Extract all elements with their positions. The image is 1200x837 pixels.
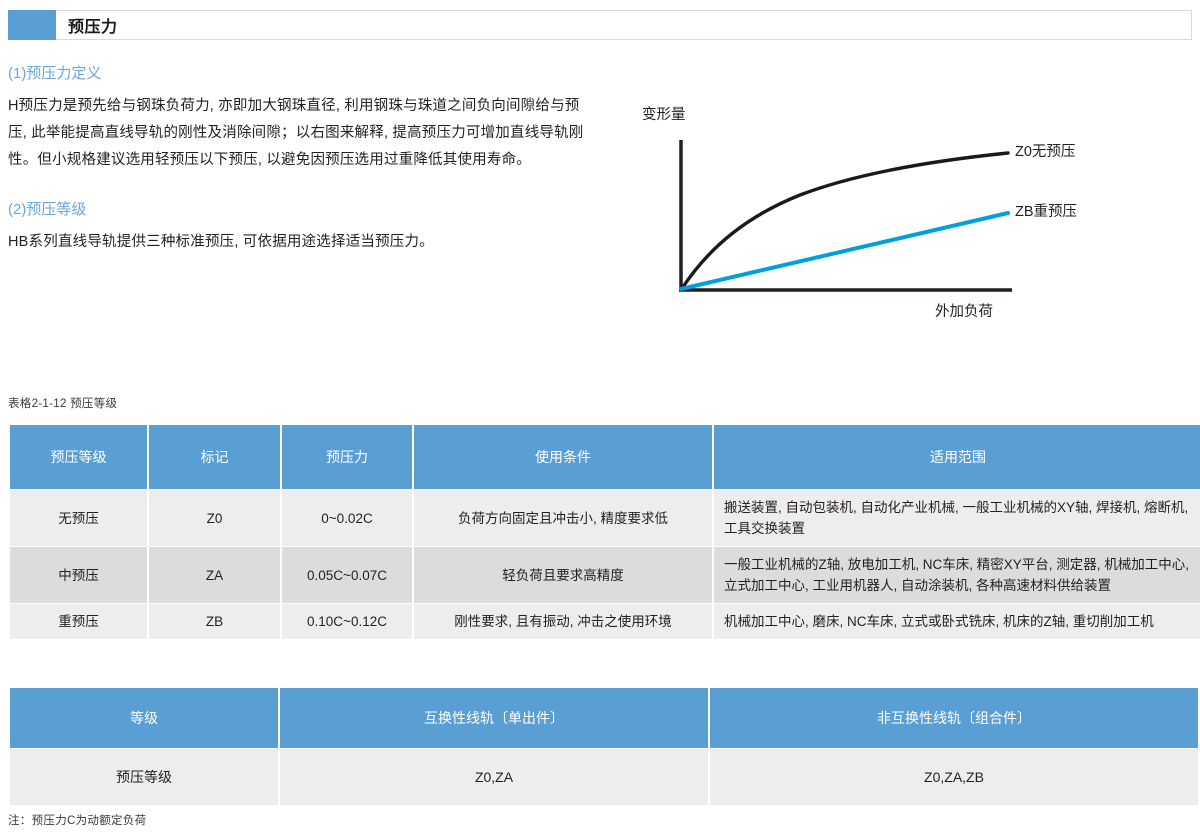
chart-legend-z0: Z0无预压 [1015, 140, 1075, 161]
cell-conditions: 轻负荷且要求高精度 [414, 547, 712, 603]
table-row: 无预压 Z0 0~0.02C 负荷方向固定且冲击小, 精度要求低 搬送装置, 自… [10, 490, 1200, 546]
chart-ylabel: 变形量 [642, 103, 686, 124]
preload-deformation-chart: 变形量 外加负荷 Z0无预压 ZB重预压 [600, 95, 1200, 340]
cell-grade: 中预压 [10, 547, 147, 603]
cell-conditions: 负荷方向固定且冲击小, 精度要求低 [414, 490, 712, 546]
table-1-col-grade: 预压等级 [10, 425, 147, 489]
cell-applications: 搬送装置, 自动包装机, 自动化产业机械, 一般工业机械的XY轴, 焊接机, 熔… [714, 490, 1200, 546]
table-1-col-conditions: 使用条件 [414, 425, 712, 489]
table-2-col-noninterchangeable: 非互换性线轨〔组合件〕 [710, 688, 1198, 748]
page-title: 预压力 [68, 13, 118, 37]
table-1-caption: 表格2-1-12 预压等级 [8, 395, 117, 411]
footnote: 注：预压力C为动额定负荷 [8, 812, 146, 828]
section-heading-definition: (1)预压力定义 [8, 62, 588, 83]
cell-noninterchangeable: Z0,ZA,ZB [710, 749, 1198, 805]
section-heading-grades: (2)预压等级 [8, 198, 588, 219]
section-body-definition: H预压力是预先给与钢珠负荷力, 亦即加大钢珠直径, 利用钢珠与珠道之间负向间隙给… [8, 93, 588, 174]
chart-legend-zb: ZB重预压 [1015, 200, 1077, 221]
chart-series-z0-curve [681, 153, 1008, 290]
cell-conditions: 刚性要求, 且有振动, 冲击之使用环境 [414, 604, 712, 639]
cell-applications: 一般工业机械的Z轴, 放电加工机, NC车床, 精密XY平台, 测定器, 机械加… [714, 547, 1200, 603]
cell-force: 0.05C~0.07C [282, 547, 412, 603]
table-row: 重预压 ZB 0.10C~0.12C 刚性要求, 且有振动, 冲击之使用环境 机… [10, 604, 1200, 639]
preload-grade-table: 预压等级 标记 预压力 使用条件 适用范围 无预压 Z0 0~0.02C 负荷方… [8, 424, 1200, 640]
table-1-header-row: 预压等级 标记 预压力 使用条件 适用范围 [10, 425, 1200, 489]
table-row: 中预压 ZA 0.05C~0.07C 轻负荷且要求高精度 一般工业机械的Z轴, … [10, 547, 1200, 603]
chart-series-zb-line [681, 213, 1008, 289]
interchangeability-table: 等级 互换性线轨〔单出件〕 非互换性线轨〔组合件〕 预压等级 Z0,ZA Z0,… [8, 687, 1200, 806]
table-2-col-interchangeable: 互换性线轨〔单出件〕 [280, 688, 708, 748]
cell-force: 0~0.02C [282, 490, 412, 546]
cell-grade: 无预压 [10, 490, 147, 546]
cell-interchangeable: Z0,ZA [280, 749, 708, 805]
table-2-col-grade: 等级 [10, 688, 278, 748]
table-1-col-force: 预压力 [282, 425, 412, 489]
cell-grade: 预压等级 [10, 749, 278, 805]
table-row: 预压等级 Z0,ZA Z0,ZA,ZB [10, 749, 1198, 805]
header-accent-block [8, 10, 56, 40]
text-column: (1)预压力定义 H预压力是预先给与钢珠负荷力, 亦即加大钢珠直径, 利用钢珠与… [8, 62, 588, 256]
section-header-bar: 预压力 [8, 10, 1192, 40]
chart-xlabel: 外加负荷 [935, 300, 993, 321]
cell-mark: ZA [149, 547, 280, 603]
table-2-header-row: 等级 互换性线轨〔单出件〕 非互换性线轨〔组合件〕 [10, 688, 1198, 748]
header-title-container: 预压力 [56, 10, 1192, 40]
cell-mark: Z0 [149, 490, 280, 546]
cell-mark: ZB [149, 604, 280, 639]
cell-grade: 重预压 [10, 604, 147, 639]
section-body-grades: HB系列直线导轨提供三种标准预压, 可依据用途选择适当预压力。 [8, 229, 588, 256]
document-page: 预压力 (1)预压力定义 H预压力是预先给与钢珠负荷力, 亦即加大钢珠直径, 利… [0, 0, 1200, 837]
table-1-col-applications: 适用范围 [714, 425, 1200, 489]
cell-force: 0.10C~0.12C [282, 604, 412, 639]
chart-svg [600, 95, 1200, 340]
cell-applications: 机械加工中心, 磨床, NC车床, 立式或卧式铣床, 机床的Z轴, 重切削加工机 [714, 604, 1200, 639]
table-1-col-mark: 标记 [149, 425, 280, 489]
